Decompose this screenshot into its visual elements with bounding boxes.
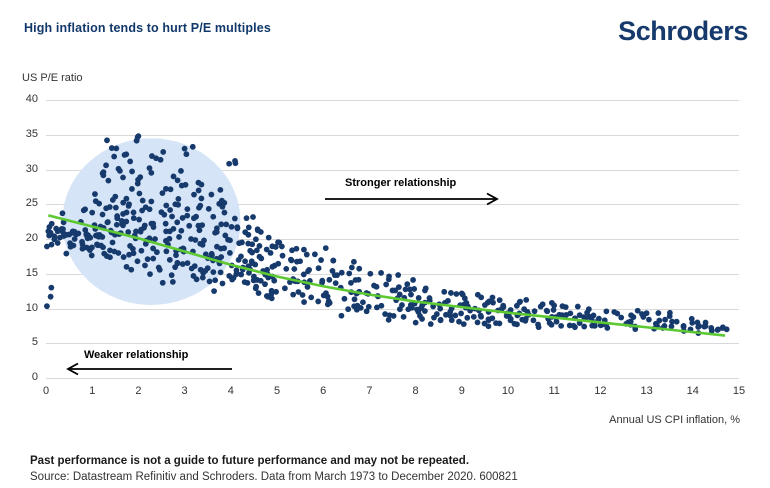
plot-area bbox=[46, 100, 739, 378]
y-axis-title: US P/E ratio bbox=[22, 72, 83, 84]
page-title: High inflation tends to hurt P/E multipl… bbox=[24, 21, 271, 35]
annotation-weaker-label: Weaker relationship bbox=[84, 349, 188, 361]
schroders-logo: Schroders bbox=[618, 18, 748, 45]
y-tick-label: 40 bbox=[8, 93, 38, 105]
y-tick-label: 5 bbox=[8, 336, 38, 348]
x-tick-label: 0 bbox=[31, 385, 61, 397]
x-tick-label: 1 bbox=[77, 385, 107, 397]
arrow-left-icon bbox=[62, 362, 232, 376]
arrow-right-icon bbox=[325, 192, 505, 206]
x-tick-label: 15 bbox=[724, 385, 754, 397]
footer-source: Source: Datastream Refinitiv and Schrode… bbox=[30, 471, 518, 483]
x-tick-label: 7 bbox=[354, 385, 384, 397]
y-tick-label: 20 bbox=[8, 232, 38, 244]
y-tick-label: 35 bbox=[8, 128, 38, 140]
y-tick-label: 0 bbox=[8, 371, 38, 383]
x-tick-label: 10 bbox=[493, 385, 523, 397]
y-tick-label: 30 bbox=[8, 163, 38, 175]
x-tick-label: 4 bbox=[216, 385, 246, 397]
x-axis-title: Annual US CPI inflation, % bbox=[609, 414, 740, 426]
y-tick-label: 25 bbox=[8, 197, 38, 209]
x-tick-label: 5 bbox=[262, 385, 292, 397]
x-tick-label: 2 bbox=[123, 385, 153, 397]
footer-disclaimer: Past performance is not a guide to futur… bbox=[30, 455, 469, 467]
x-tick-label: 12 bbox=[585, 385, 615, 397]
y-tick-label: 10 bbox=[8, 302, 38, 314]
x-tick-label: 11 bbox=[539, 385, 569, 397]
x-tick-label: 3 bbox=[170, 385, 200, 397]
x-tick-label: 6 bbox=[308, 385, 338, 397]
trendline bbox=[46, 100, 739, 378]
annotation-stronger-label: Stronger relationship bbox=[345, 177, 456, 189]
y-tick-label: 15 bbox=[8, 267, 38, 279]
x-tick-label: 13 bbox=[632, 385, 662, 397]
gridline bbox=[46, 378, 739, 379]
x-tick-label: 8 bbox=[401, 385, 431, 397]
x-tick-label: 9 bbox=[447, 385, 477, 397]
x-tick-label: 14 bbox=[678, 385, 708, 397]
chart-page: High inflation tends to hurt P/E multipl… bbox=[0, 0, 770, 488]
